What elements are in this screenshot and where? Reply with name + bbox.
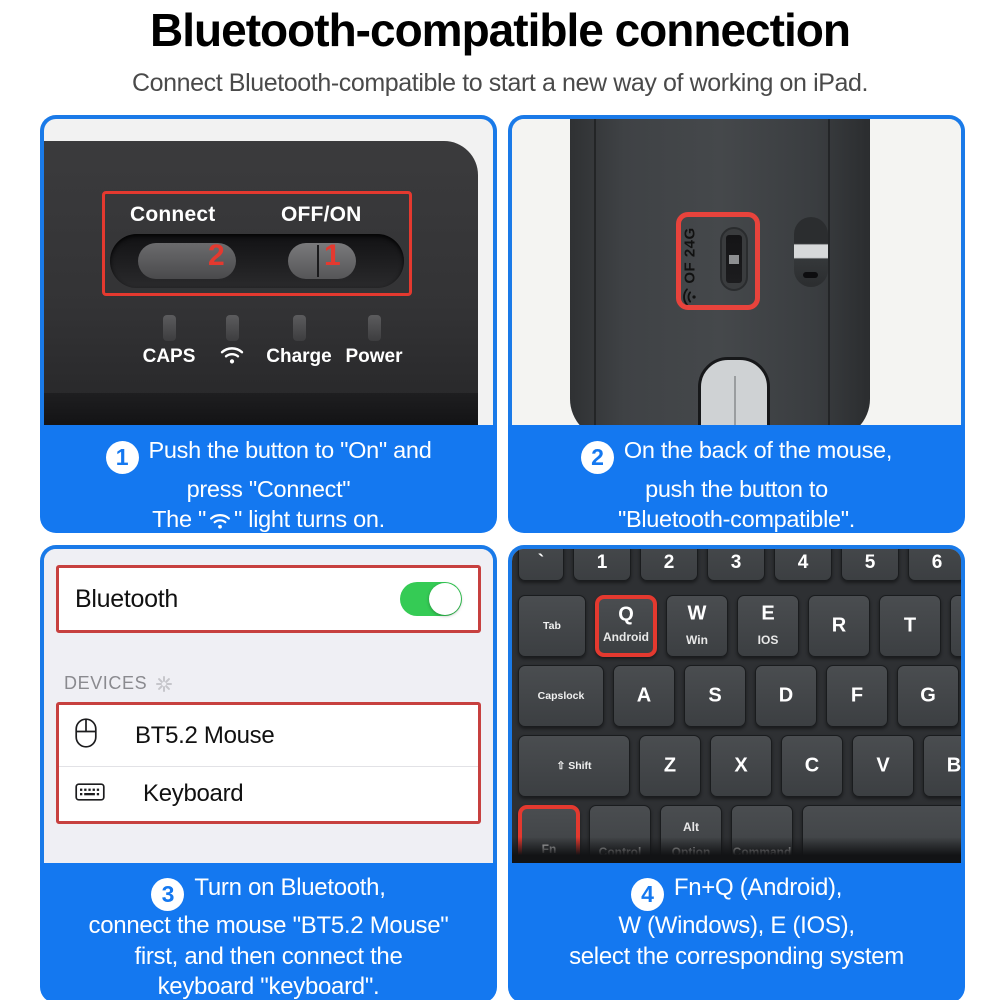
key-sublabel: IOS bbox=[738, 633, 798, 647]
key-label: D bbox=[756, 685, 816, 708]
page-title: Bluetooth-compatible connection bbox=[0, 0, 1000, 57]
key-f[interactable]: F bbox=[826, 665, 888, 727]
key-label: Y bbox=[951, 615, 961, 638]
ios-settings-screen: Bluetooth DEVICES bbox=[44, 549, 493, 863]
key-capslock[interactable]: Capslock bbox=[518, 665, 604, 727]
key-tab[interactable]: Tab bbox=[518, 595, 586, 657]
key-grave[interactable]: ` bbox=[518, 549, 564, 581]
key-label: Alt bbox=[661, 820, 721, 834]
key-label: W bbox=[667, 603, 727, 626]
key-sublabel: Android bbox=[599, 630, 653, 644]
key-3[interactable]: 3 bbox=[707, 549, 765, 581]
wifi-icon bbox=[206, 346, 258, 371]
step-4-line-3: select the corresponding system bbox=[569, 943, 904, 970]
key-label: 5 bbox=[842, 552, 898, 574]
led-charge: Charge bbox=[256, 315, 342, 368]
key-label: B bbox=[924, 755, 961, 778]
step-panel-4: ` 1 2 3 4 5 6 Tab Q bbox=[508, 545, 965, 1000]
step-1-caption: 1Push the button to "On" and press "Conn… bbox=[40, 425, 497, 533]
step-2-line-3: "Bluetooth-compatible". bbox=[618, 506, 855, 532]
step-3-number: 3 bbox=[151, 878, 184, 911]
key-4[interactable]: 4 bbox=[774, 549, 832, 581]
led-label-caps: CAPS bbox=[136, 346, 202, 368]
devices-section-header: DEVICES bbox=[64, 673, 481, 694]
key-t[interactable]: T bbox=[879, 595, 941, 657]
key-label: 6 bbox=[909, 552, 961, 574]
bluetooth-row[interactable]: Bluetooth bbox=[59, 568, 478, 630]
key-label: S bbox=[685, 685, 745, 708]
key-label: V bbox=[853, 755, 913, 778]
devices-header-label: DEVICES bbox=[64, 673, 147, 694]
led-dot-power bbox=[368, 315, 381, 341]
step-1-line-3-suffix: " light turns on. bbox=[234, 506, 385, 532]
keyboard-qwerty-row: Tab Q Android W Win E IOS bbox=[518, 595, 961, 657]
key-r[interactable]: R bbox=[808, 595, 870, 657]
annotation-marker-1: 1 bbox=[324, 239, 341, 273]
mode-switch-highlight-box bbox=[676, 212, 760, 310]
switch-highlight-box bbox=[102, 191, 412, 296]
led-dot-charge bbox=[293, 315, 306, 341]
step-3-line-4: keyboard "keyboard". bbox=[158, 973, 380, 1000]
keyboard-base-shadow bbox=[512, 837, 961, 863]
key-label: 1 bbox=[574, 552, 630, 574]
key-s[interactable]: S bbox=[684, 665, 746, 727]
key-label: 4 bbox=[775, 552, 831, 574]
key-6[interactable]: 6 bbox=[908, 549, 961, 581]
key-label: R bbox=[809, 615, 869, 638]
led-wifi bbox=[206, 315, 258, 371]
list-item[interactable]: BT5.2 Mouse bbox=[59, 705, 478, 766]
key-c[interactable]: C bbox=[781, 735, 843, 797]
key-x[interactable]: X bbox=[710, 735, 772, 797]
key-label: C bbox=[782, 755, 842, 778]
step-2-line-1: On the back of the mouse, bbox=[624, 437, 892, 463]
key-d[interactable]: D bbox=[755, 665, 817, 727]
mouse-icon bbox=[75, 718, 97, 753]
annotation-marker-2: 2 bbox=[208, 239, 225, 273]
bluetooth-label: Bluetooth bbox=[75, 585, 178, 614]
wifi-icon-inline bbox=[208, 507, 232, 537]
bluetooth-row-highlight-box: Bluetooth bbox=[56, 565, 481, 633]
key-shift[interactable]: ⇧ Shift bbox=[518, 735, 630, 797]
step-panel-1: Connect OFF/ON 2 1 CAPS bbox=[40, 115, 497, 533]
key-label: G bbox=[898, 685, 958, 708]
led-dot-wifi bbox=[226, 315, 239, 341]
step-1-line-2: press "Connect" bbox=[187, 476, 351, 502]
step-3-line-3: first, and then connect the bbox=[134, 943, 402, 970]
led-label-power: Power bbox=[332, 346, 416, 368]
loading-spinner-icon bbox=[155, 675, 173, 693]
step-1-number: 1 bbox=[106, 441, 139, 474]
key-z[interactable]: Z bbox=[639, 735, 701, 797]
step-4-number: 4 bbox=[631, 878, 664, 911]
keyboard-home-row: Capslock A S D F G bbox=[518, 665, 961, 727]
keyboard-shift-row: ⇧ Shift Z X C V B bbox=[518, 735, 961, 797]
key-label: Z bbox=[640, 755, 700, 778]
key-label: X bbox=[711, 755, 771, 778]
key-1[interactable]: 1 bbox=[573, 549, 631, 581]
key-label: ⇧ Shift bbox=[519, 760, 629, 772]
step-1-photo: Connect OFF/ON 2 1 CAPS bbox=[40, 115, 497, 425]
key-a[interactable]: A bbox=[613, 665, 675, 727]
step-3-photo: Bluetooth DEVICES bbox=[40, 545, 497, 863]
step-2-line-2: push the button to bbox=[645, 476, 828, 502]
step-1-line-1: Push the button to "On" and bbox=[149, 437, 432, 463]
dpi-button[interactable] bbox=[794, 217, 828, 287]
bluetooth-toggle[interactable] bbox=[400, 582, 462, 616]
infographic-page: Bluetooth-compatible connection Connect … bbox=[0, 0, 1000, 1000]
key-label: E bbox=[738, 603, 798, 626]
step-3-line-1: Turn on Bluetooth, bbox=[194, 874, 385, 901]
led-caps: CAPS bbox=[136, 315, 202, 368]
key-label: Tab bbox=[519, 620, 585, 632]
step-4-line-2: W (Windows), E (IOS), bbox=[618, 912, 854, 939]
key-label: Q bbox=[599, 604, 653, 627]
key-w[interactable]: W Win bbox=[666, 595, 728, 657]
keyboard-photo: ` 1 2 3 4 5 6 Tab Q bbox=[512, 549, 961, 863]
step-2-number: 2 bbox=[581, 441, 614, 474]
led-dot-caps bbox=[163, 315, 176, 341]
step-panel-2: OF 24G 2On the back of the mou bbox=[508, 115, 965, 533]
device-name-mouse: BT5.2 Mouse bbox=[135, 722, 274, 750]
key-label: T bbox=[880, 615, 940, 638]
step-panel-3: Bluetooth DEVICES bbox=[40, 545, 497, 1000]
key-e[interactable]: E IOS bbox=[737, 595, 799, 657]
key-b[interactable]: B bbox=[923, 735, 961, 797]
keyboard-icon bbox=[75, 781, 105, 808]
led-power: Power bbox=[332, 315, 416, 368]
key-label: Capslock bbox=[519, 690, 603, 702]
steps-grid: Connect OFF/ON 2 1 CAPS bbox=[40, 115, 965, 1000]
key-label: ` bbox=[519, 552, 563, 574]
step-2-photo: OF 24G bbox=[508, 115, 965, 425]
step-4-line-1: Fn+Q (Android), bbox=[674, 874, 842, 901]
key-g[interactable]: G bbox=[897, 665, 959, 727]
key-label: F bbox=[827, 685, 887, 708]
toggle-knob bbox=[429, 583, 461, 615]
battery-door bbox=[698, 357, 770, 425]
mouse-underside-scene: OF 24G bbox=[512, 119, 961, 425]
key-v[interactable]: V bbox=[852, 735, 914, 797]
key-sublabel: Win bbox=[667, 633, 727, 647]
key-5[interactable]: 5 bbox=[841, 549, 899, 581]
devices-list-highlight-box: BT5.2 Mouse bbox=[56, 702, 481, 824]
key-2[interactable]: 2 bbox=[640, 549, 698, 581]
step-2-caption: 2On the back of the mouse, push the butt… bbox=[508, 425, 965, 533]
key-label: 2 bbox=[641, 552, 697, 574]
key-y[interactable]: Y bbox=[950, 595, 961, 657]
key-label: 3 bbox=[708, 552, 764, 574]
key-q[interactable]: Q Android bbox=[595, 595, 657, 657]
key-label: A bbox=[614, 685, 674, 708]
step-4-caption: 4Fn+Q (Android), W (Windows), E (IOS), s… bbox=[508, 863, 965, 1000]
step-3-caption: 3Turn on Bluetooth, connect the mouse "B… bbox=[40, 863, 497, 1000]
keyboard-number-row: ` 1 2 3 4 5 6 bbox=[518, 549, 961, 581]
list-item[interactable]: Keyboard bbox=[59, 766, 478, 821]
page-subtitle: Connect Bluetooth-compatible to start a … bbox=[0, 69, 1000, 98]
device-name-keyboard: Keyboard bbox=[143, 780, 243, 808]
step-1-line-3-prefix: The " bbox=[152, 506, 206, 532]
led-label-charge: Charge bbox=[256, 346, 342, 368]
step-4-photo: ` 1 2 3 4 5 6 Tab Q bbox=[508, 545, 965, 863]
step-3-line-2: connect the mouse "BT5.2 Mouse" bbox=[89, 912, 449, 939]
